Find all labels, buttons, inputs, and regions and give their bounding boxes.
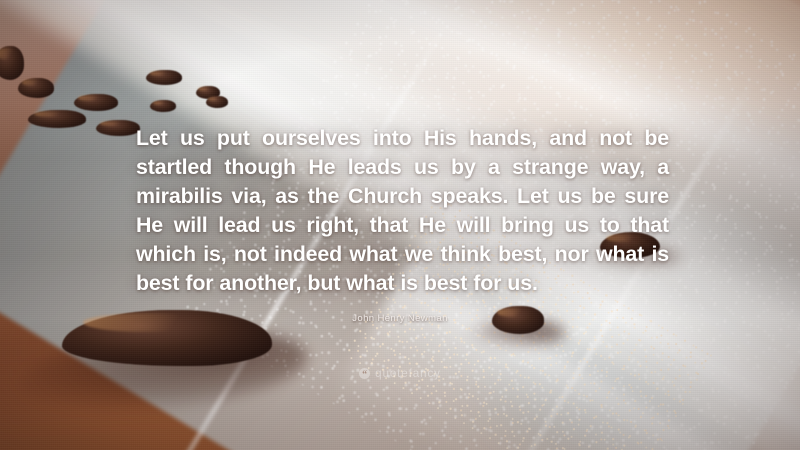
quote-mark-glyph: “ [362, 370, 367, 380]
watermark-brand-label: quotefancy [375, 367, 441, 380]
quote-author: John Henry Newman [0, 313, 800, 324]
quote-text: Let us put ourselves into His hands, and… [136, 124, 669, 298]
rock-small-b [18, 78, 54, 98]
rock-small-d [146, 70, 182, 85]
quote-mark-badge-icon: “ [359, 368, 370, 379]
rock-small-h [96, 120, 140, 136]
rock-small-f [150, 100, 176, 112]
quote-block: Let us put ourselves into His hands, and… [136, 124, 669, 298]
watermark-quotefancy: “ quotefancy [0, 367, 800, 380]
rock-small-c [74, 94, 118, 111]
rock-small-i [206, 96, 228, 108]
quote-image-canvas: Let us put ourselves into His hands, and… [0, 0, 800, 450]
rock-small-g [28, 110, 86, 128]
rock-small-a [0, 46, 24, 80]
